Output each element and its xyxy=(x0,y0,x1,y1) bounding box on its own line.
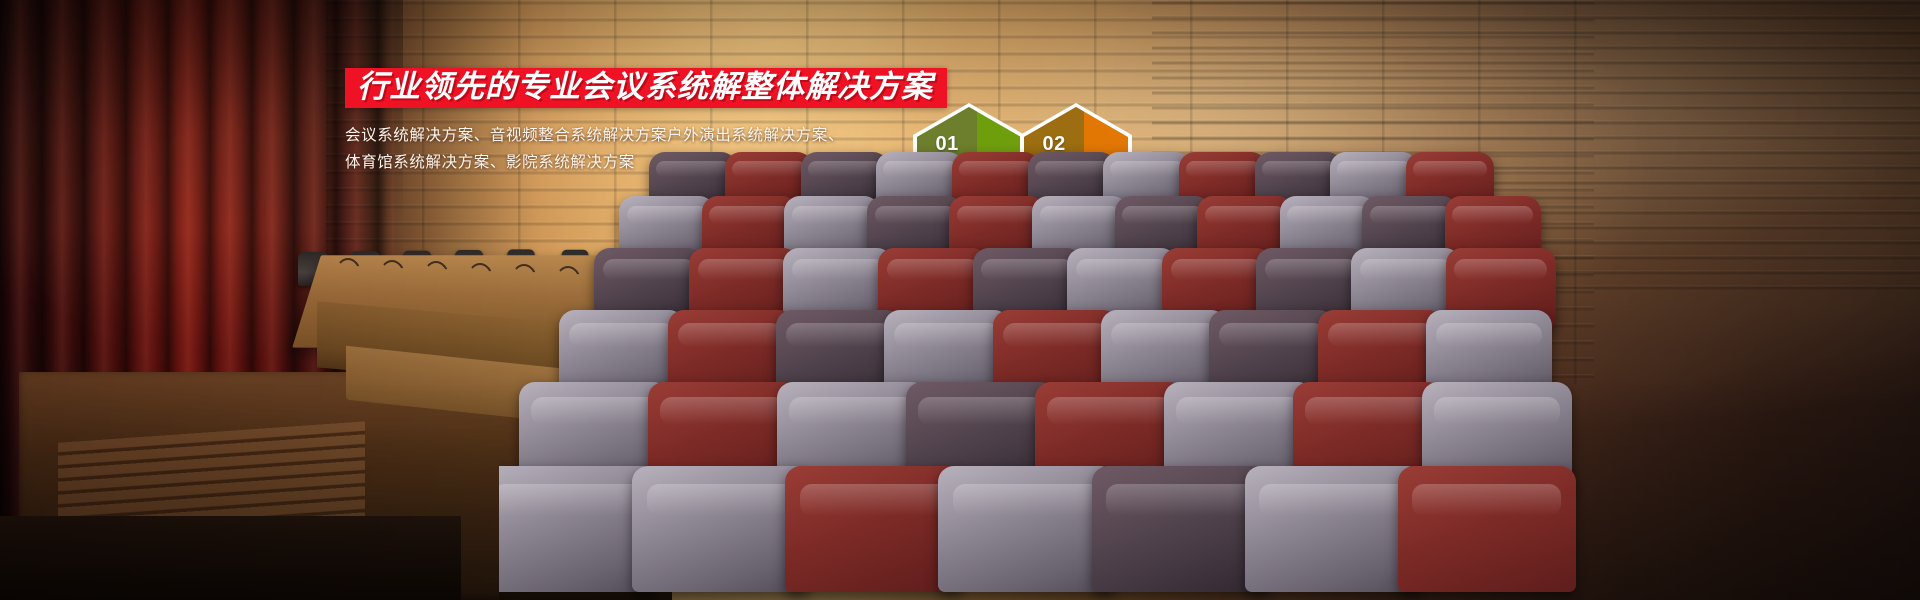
theater-seat xyxy=(632,466,810,592)
theater-seat xyxy=(785,466,963,592)
seat-highlight xyxy=(698,259,790,280)
seat-highlight xyxy=(678,323,784,347)
seat-highlight xyxy=(1412,484,1562,517)
seat-highlight xyxy=(1035,161,1109,177)
seat-highlight xyxy=(1328,323,1434,347)
seat-highlight xyxy=(786,323,892,347)
seat-highlight xyxy=(1176,397,1302,425)
seat-highlight xyxy=(1259,484,1409,517)
hexagon-number-tab: 02 xyxy=(1024,107,1084,159)
seat-highlight xyxy=(1110,161,1184,177)
seat-highlight xyxy=(1265,259,1357,280)
seat-highlight xyxy=(1205,206,1286,224)
banner-stage: 行业领先的专业会议系统解整体解决方案 会议系统解决方案、音视频整合系统解决方案户… xyxy=(0,0,1920,600)
seat-highlight xyxy=(1171,259,1263,280)
seat-highlight xyxy=(1262,161,1336,177)
seat-highlight xyxy=(709,206,790,224)
seat-highlight xyxy=(1122,206,1203,224)
seat-highlight xyxy=(918,397,1044,425)
seat-highlight xyxy=(800,484,950,517)
seat-highlight xyxy=(875,206,956,224)
auditorium-background-photo xyxy=(0,0,1920,600)
seat-highlight xyxy=(1452,206,1533,224)
seat-highlight xyxy=(808,161,882,177)
seat-highlight xyxy=(1360,259,1452,280)
seat-highlight xyxy=(1434,397,1560,425)
hexagon-number-tab: 01 xyxy=(917,107,977,159)
seat-highlight xyxy=(953,484,1103,517)
seat-highlight xyxy=(1287,206,1368,224)
seat-highlight xyxy=(1003,323,1109,347)
seat-highlight xyxy=(1106,484,1256,517)
seat-highlight xyxy=(792,206,873,224)
seat-highlight xyxy=(1111,323,1217,347)
theater-seat xyxy=(1398,466,1576,592)
seat-highlight xyxy=(531,397,657,425)
seat-highlight xyxy=(627,206,708,224)
seat-highlight xyxy=(647,484,797,517)
theater-seat xyxy=(1092,466,1270,592)
seat-highlight xyxy=(499,484,643,517)
seat-highlight xyxy=(883,161,957,177)
seat-highlight xyxy=(656,161,730,177)
seat-highlight xyxy=(732,161,806,177)
seat-highlight xyxy=(887,259,979,280)
seat-highlight xyxy=(1047,397,1173,425)
seat-highlight xyxy=(1413,161,1487,177)
seat-highlight xyxy=(981,259,1073,280)
seat-highlight xyxy=(957,206,1038,224)
theater-seat xyxy=(1245,466,1423,592)
seat-highlight xyxy=(792,259,884,280)
seat-highlight xyxy=(959,161,1033,177)
theater-seat xyxy=(938,466,1116,592)
seat-highlight xyxy=(1337,161,1411,177)
seat-highlight xyxy=(1219,323,1325,347)
seat-highlight xyxy=(1305,397,1431,425)
seat-highlight xyxy=(1370,206,1451,224)
seat-highlight xyxy=(1454,259,1546,280)
seat-highlight xyxy=(603,259,695,280)
seat-highlight xyxy=(789,397,915,425)
seat-highlight xyxy=(1076,259,1168,280)
seat-highlight xyxy=(660,397,786,425)
page-title: 行业领先的专业会议系统解整体解决方案 xyxy=(357,72,933,102)
seat-highlight xyxy=(1186,161,1260,177)
seat-highlight xyxy=(569,323,675,347)
seat-highlight xyxy=(894,323,1000,347)
seat-highlight xyxy=(1040,206,1121,224)
seat-highlight xyxy=(1436,323,1542,347)
